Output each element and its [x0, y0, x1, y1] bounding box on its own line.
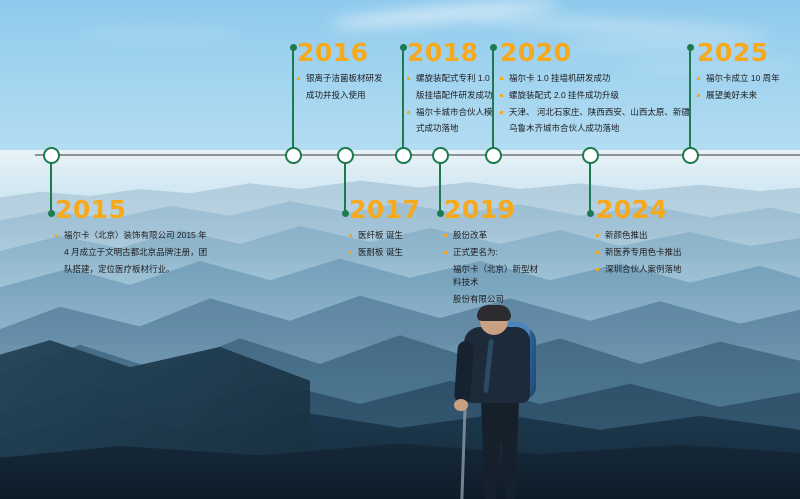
milestone-block-2019: 2019股份改革正式更名为:福尔卡（北京）新型材料技术股份有限公司	[444, 197, 544, 310]
milestone-year-label: 2016	[297, 40, 392, 65]
milestone-bullet-item: 医耐板 诞生	[349, 246, 444, 260]
hiker-torso	[464, 327, 530, 403]
milestone-year-label: 2018	[407, 40, 502, 65]
milestone-block-2024: 2024新颜色推出新医养专用色卡推出深圳合伙人案例落地	[596, 197, 716, 279]
milestone-year-label: 2020	[500, 40, 690, 65]
milestone-bullet-item: 版挂墙配件研发成功	[407, 89, 502, 103]
milestone-bullet-item: 股份有限公司	[444, 293, 544, 307]
milestone-block-2016: 2016银离子洁菌板材研发成功并投入使用	[297, 40, 392, 106]
milestone-bullet-list: 医纤板 诞生医耐板 诞生	[349, 229, 444, 260]
milestone-block-2015: 2015福尔卡（北京）装饰有限公司 2015 年4 月成立于文明古都北京品牌注册…	[55, 197, 225, 279]
cloud-wisp-icon	[80, 30, 240, 39]
milestone-bullet-item: 福尔卡 1.0 挂墙机研发成功	[500, 72, 690, 86]
milestone-bullet-list: 银离子洁菌板材研发成功并投入使用	[297, 72, 392, 103]
milestone-node-2025[interactable]	[682, 147, 699, 164]
milestone-year-label: 2024	[596, 197, 716, 222]
milestone-bullet-item: 正式更名为:	[444, 246, 544, 260]
milestone-stem	[492, 47, 494, 155]
milestone-stem-dot	[687, 44, 694, 51]
milestone-bullet-item: 式成功落地	[407, 122, 502, 136]
milestone-block-2025: 2025福尔卡成立 10 周年展望美好未来	[697, 40, 797, 106]
milestone-bullet-item: 福尔卡城市合伙人模	[407, 106, 502, 120]
milestone-node-2020[interactable]	[485, 147, 502, 164]
milestone-year-label: 2015	[55, 197, 225, 222]
milestone-node-2018[interactable]	[395, 147, 412, 164]
milestone-bullet-item: 螺旋装配式专利 1.0	[407, 72, 502, 86]
milestone-bullet-item: 天津、 河北石家庄、陕西西安、山西太原、新疆	[500, 106, 690, 120]
foreground-ridge	[0, 440, 800, 499]
milestone-node-2024[interactable]	[582, 147, 599, 164]
milestone-stem	[402, 47, 404, 155]
milestone-year-label: 2025	[697, 40, 797, 65]
milestone-bullet-item: 医纤板 诞生	[349, 229, 444, 243]
milestone-node-2016[interactable]	[285, 147, 302, 164]
milestone-bullet-list: 股份改革正式更名为:福尔卡（北京）新型材料技术股份有限公司	[444, 229, 544, 307]
milestone-node-2017[interactable]	[337, 147, 354, 164]
milestone-bullet-list: 福尔卡 1.0 挂墙机研发成功螺旋装配式 2.0 挂件成功升级天津、 河北石家庄…	[500, 72, 690, 136]
milestone-bullet-list: 新颜色推出新医养专用色卡推出深圳合伙人案例落地	[596, 229, 716, 276]
milestone-block-2017: 2017医纤板 诞生医耐板 诞生	[349, 197, 444, 263]
milestone-bullet-item: 新医养专用色卡推出	[596, 246, 716, 260]
milestone-stem-dot	[587, 210, 594, 217]
milestone-stem-dot	[437, 210, 444, 217]
milestone-bullet-item: 螺旋装配式 2.0 挂件成功升级	[500, 89, 690, 103]
milestone-year-label: 2017	[349, 197, 444, 222]
milestone-bullet-item: 深圳合伙人案例落地	[596, 263, 716, 277]
milestone-year-label: 2019	[444, 197, 544, 222]
cloud-wisp-icon	[470, 12, 770, 41]
milestone-stem-dot	[48, 210, 55, 217]
milestone-stem-dot	[290, 44, 297, 51]
hiker-legs	[478, 391, 522, 499]
milestone-bullet-item: 4 月成立于文明古都北京品牌注册，团	[55, 246, 225, 260]
milestone-stem	[689, 47, 691, 155]
milestone-bullet-item: 展望美好未来	[697, 89, 797, 103]
milestone-node-2015[interactable]	[43, 147, 60, 164]
milestone-bullet-list: 福尔卡（北京）装饰有限公司 2015 年4 月成立于文明古都北京品牌注册，团队搭…	[55, 229, 225, 276]
milestone-stem-dot	[342, 210, 349, 217]
milestone-bullet-item: 队搭建，定位医疗板材行业。	[55, 263, 225, 277]
milestone-bullet-item: 股份改革	[444, 229, 544, 243]
milestone-bullet-item: 银离子洁菌板材研发	[297, 72, 392, 86]
timeline-infographic: 2015福尔卡（北京）装饰有限公司 2015 年4 月成立于文明古都北京品牌注册…	[0, 0, 800, 499]
milestone-bullet-item: 成功并投入使用	[297, 89, 392, 103]
milestone-block-2018: 2018螺旋装配式专利 1.0版挂墙配件研发成功福尔卡城市合伙人模式成功落地	[407, 40, 502, 139]
milestone-stem-dot	[400, 44, 407, 51]
milestone-bullet-list: 福尔卡成立 10 周年展望美好未来	[697, 72, 797, 103]
trekking-pole-icon	[460, 405, 466, 499]
milestone-bullet-item: 乌鲁木齐城市合伙人成功落地	[500, 122, 690, 136]
milestone-bullet-item: 福尔卡（北京）装饰有限公司 2015 年	[55, 229, 225, 243]
milestone-bullet-item: 福尔卡（北京）新型材料技术	[444, 263, 544, 291]
milestone-block-2020: 2020福尔卡 1.0 挂墙机研发成功螺旋装配式 2.0 挂件成功升级天津、 河…	[500, 40, 690, 139]
milestone-bullet-item: 福尔卡成立 10 周年	[697, 72, 797, 86]
hiker-figure	[440, 305, 560, 499]
milestone-bullet-list: 螺旋装配式专利 1.0版挂墙配件研发成功福尔卡城市合伙人模式成功落地	[407, 72, 502, 136]
milestone-stem-dot	[490, 44, 497, 51]
milestone-node-2019[interactable]	[432, 147, 449, 164]
hiker-hand	[454, 399, 468, 411]
milestone-stem	[292, 47, 294, 155]
milestone-bullet-item: 新颜色推出	[596, 229, 716, 243]
